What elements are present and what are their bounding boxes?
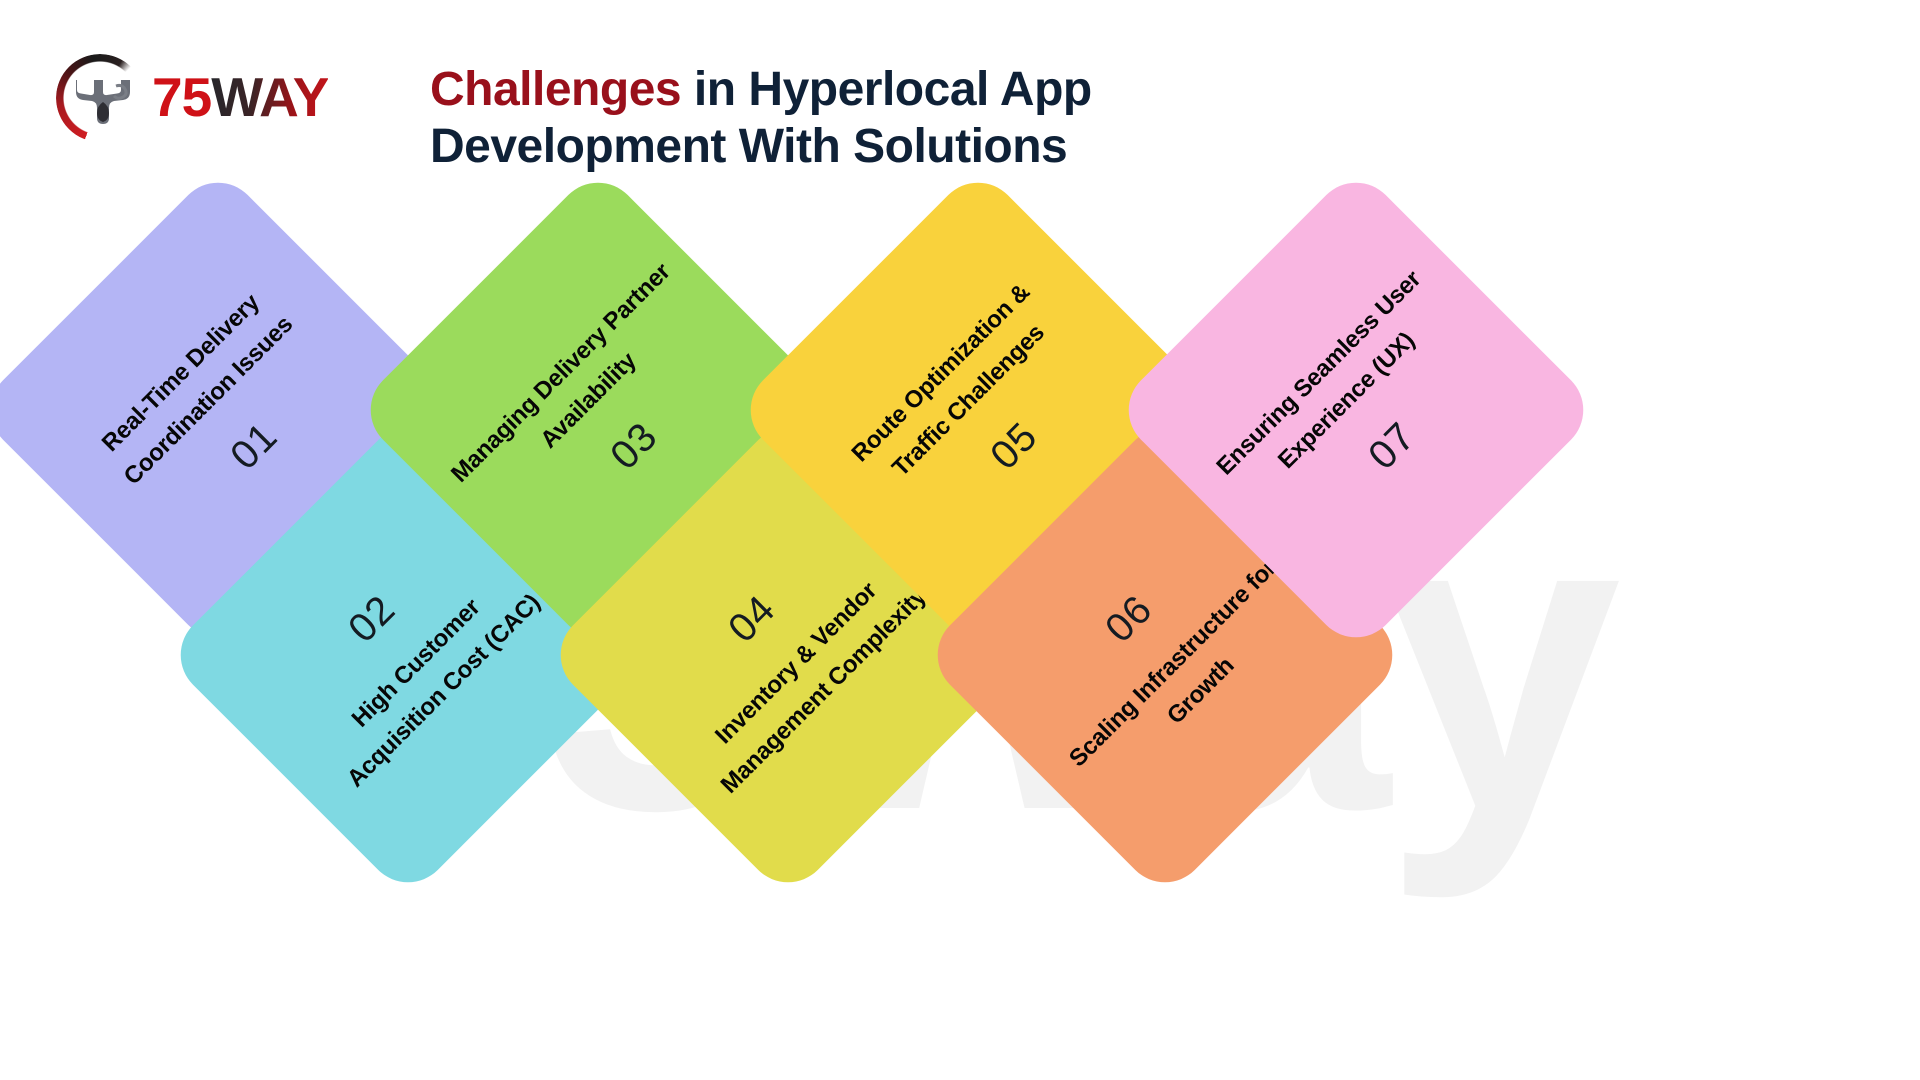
- logo-text-75: 75: [152, 66, 211, 128]
- title-rest-line1: in Hyperlocal App: [681, 63, 1092, 116]
- title-line2: Development With Solutions: [430, 120, 1067, 173]
- brand-logo: 75WAY: [52, 45, 352, 150]
- page-title: Challenges in Hyperlocal AppDevelopment …: [430, 62, 1330, 175]
- crescent-logo-icon: [52, 50, 148, 146]
- title-accent-word: Challenges: [430, 63, 681, 116]
- bull-glyph-icon: [72, 72, 134, 128]
- header: 75WAY Challenges in Hyperlocal AppDevelo…: [0, 0, 1920, 230]
- logo-text-way: WAY: [211, 66, 328, 128]
- logo-wordmark: 75WAY: [152, 70, 328, 125]
